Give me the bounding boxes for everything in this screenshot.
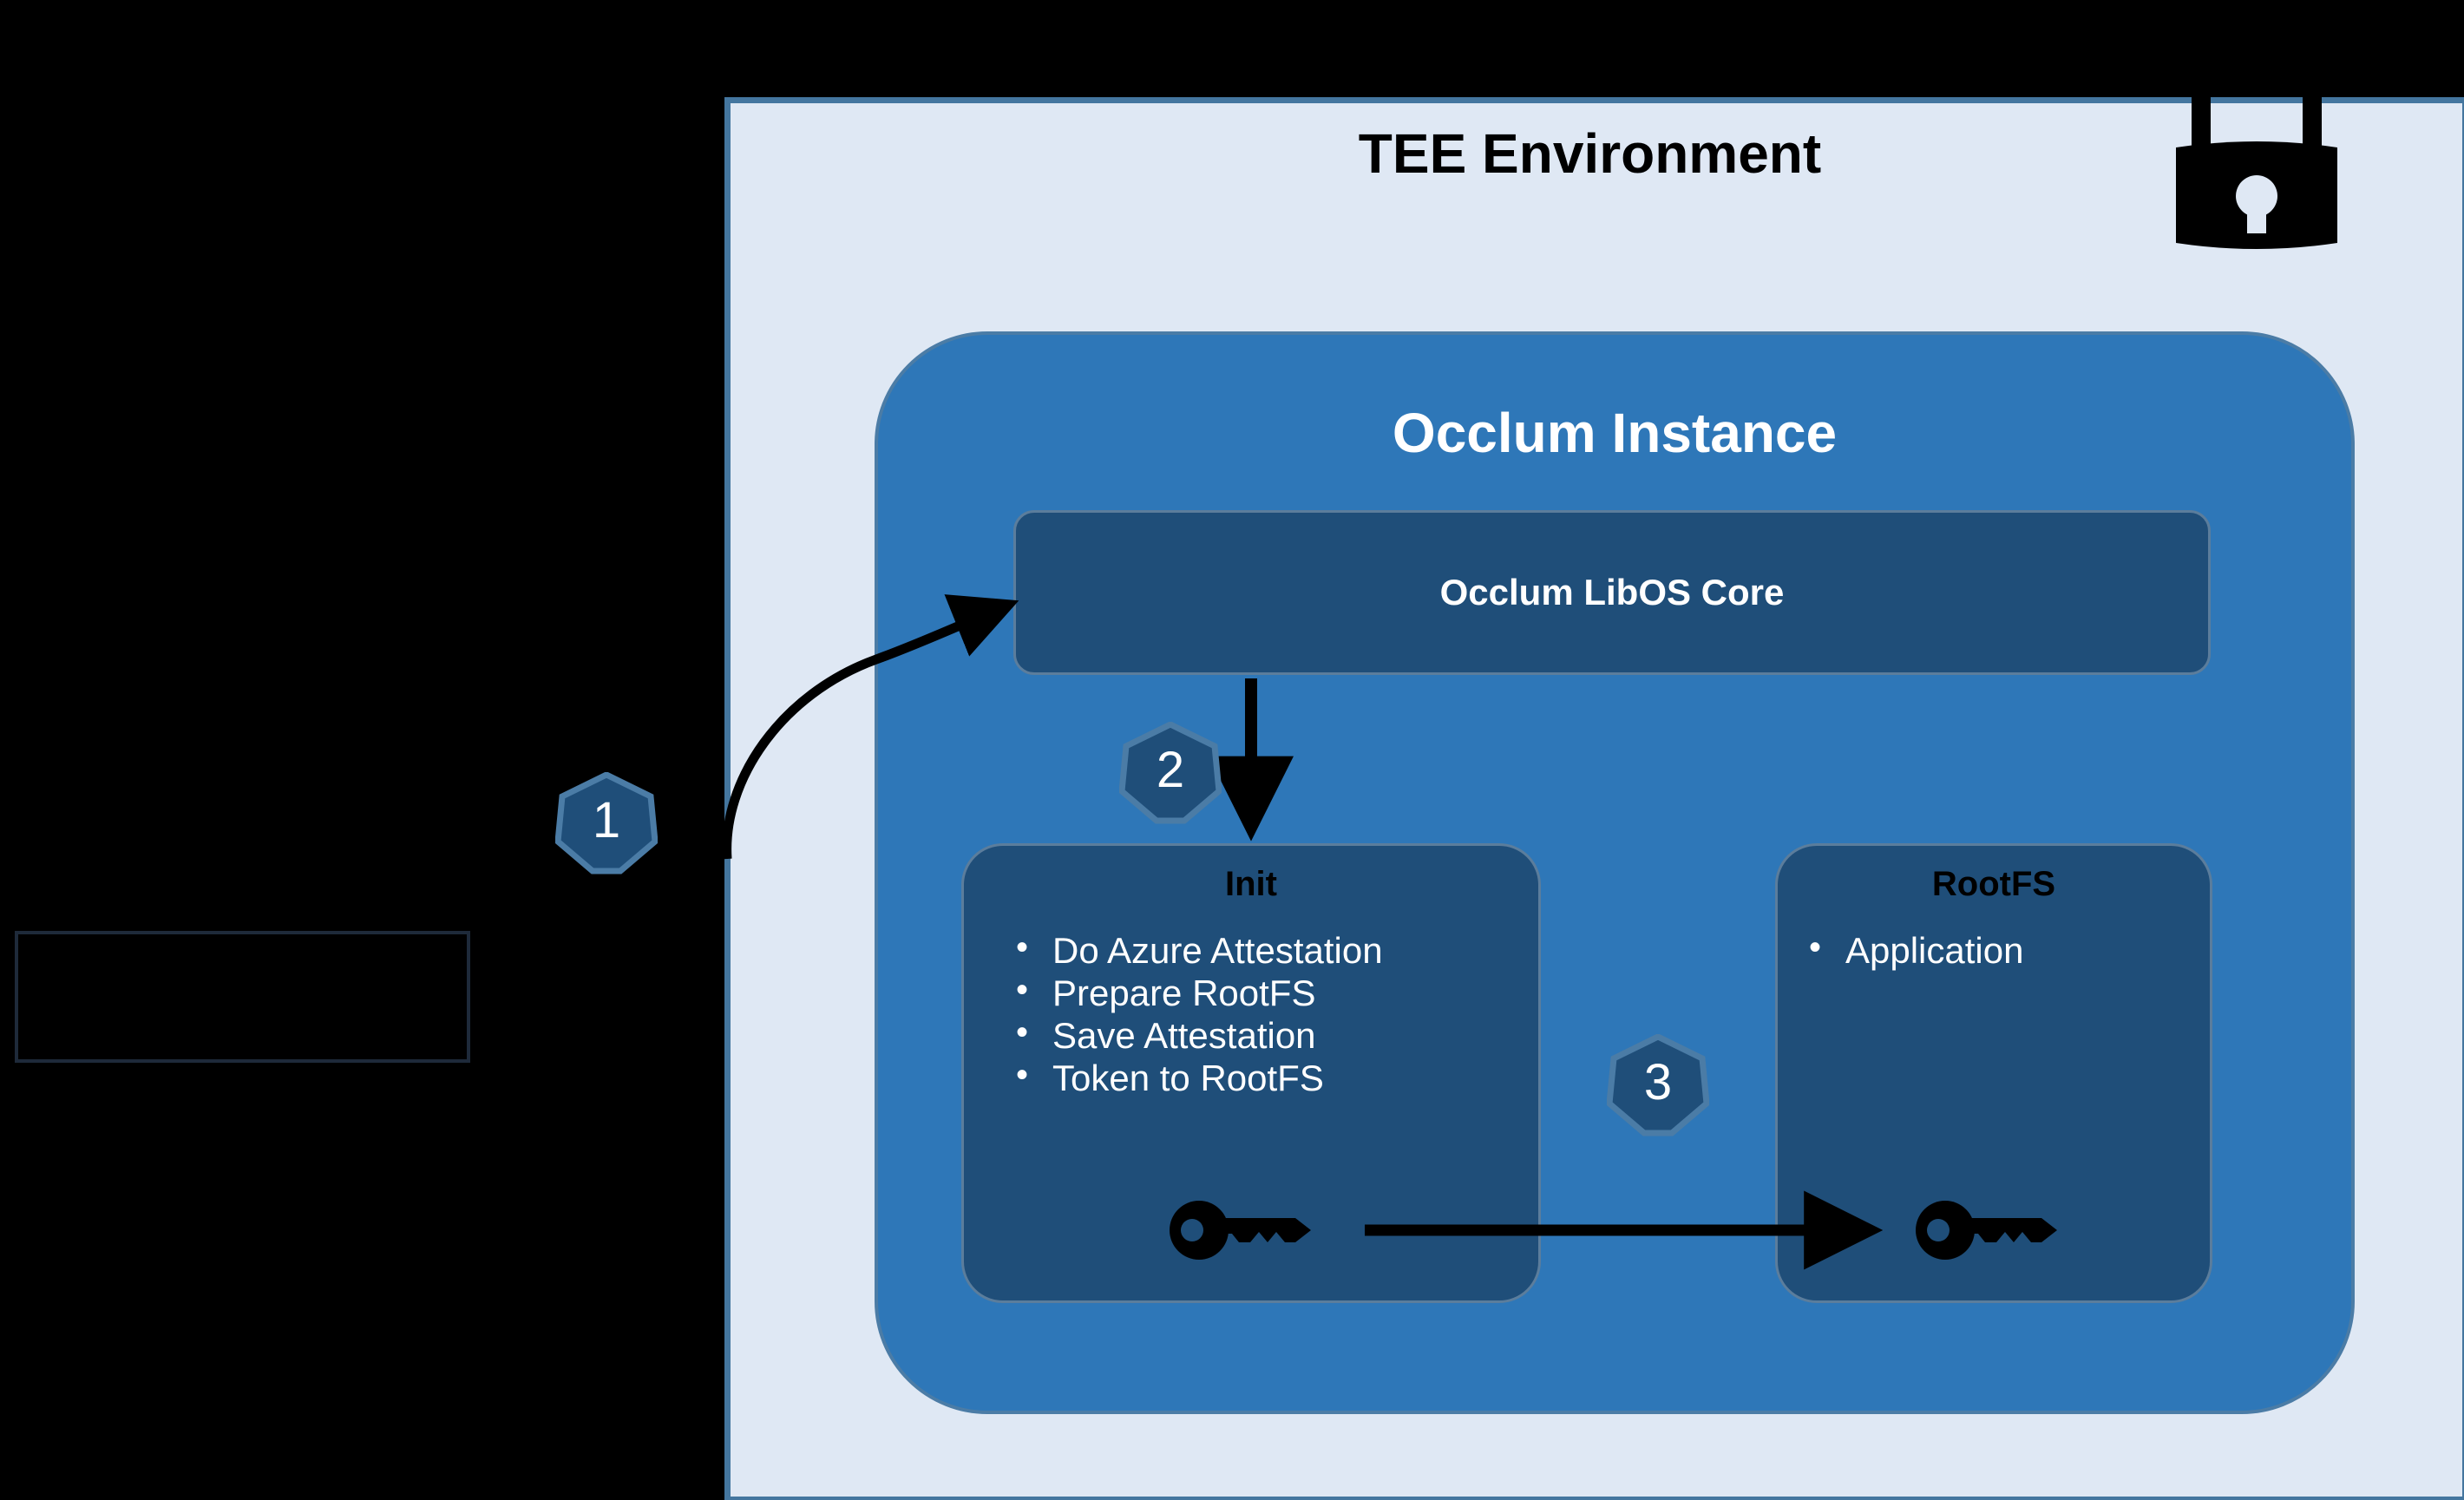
key-icon xyxy=(1916,1199,2072,1261)
empty-placeholder-box xyxy=(15,931,470,1063)
rootfs-title: RootFS xyxy=(1778,865,2210,904)
step-badge-label: 2 xyxy=(1157,745,1184,801)
step-badge-label: 3 xyxy=(1644,1058,1672,1113)
init-bullet-list: Do Azure Attestation Prepare RootFS Save… xyxy=(1004,929,1383,1100)
occlum-instance-title: Occlum Instance xyxy=(875,401,2355,465)
step-badge-label: 1 xyxy=(593,796,620,851)
key-icon xyxy=(1170,1199,1326,1261)
list-item: Do Azure Attestation xyxy=(1004,929,1383,972)
diagram-canvas: TEE Environment Occlum Instance Occlum L… xyxy=(0,0,2464,1500)
step-badge-1: 1 xyxy=(555,772,658,874)
step-badge-3: 3 xyxy=(1607,1034,1709,1136)
list-item-continuation: Token to RootFS xyxy=(1004,1057,1383,1099)
init-title: Init xyxy=(964,865,1538,904)
padlock-icon xyxy=(2166,94,2348,254)
rootfs-bullet-list: Application xyxy=(1797,929,2023,972)
occlum-libos-core-box: Occlum LibOS Core xyxy=(1013,510,2211,675)
list-item: Save Attestation xyxy=(1004,1014,1383,1057)
list-item: Prepare RootFS xyxy=(1004,972,1383,1014)
list-item: Application xyxy=(1797,929,2023,972)
step-badge-2: 2 xyxy=(1119,722,1222,824)
occlum-libos-core-label: Occlum LibOS Core xyxy=(1440,572,1785,613)
